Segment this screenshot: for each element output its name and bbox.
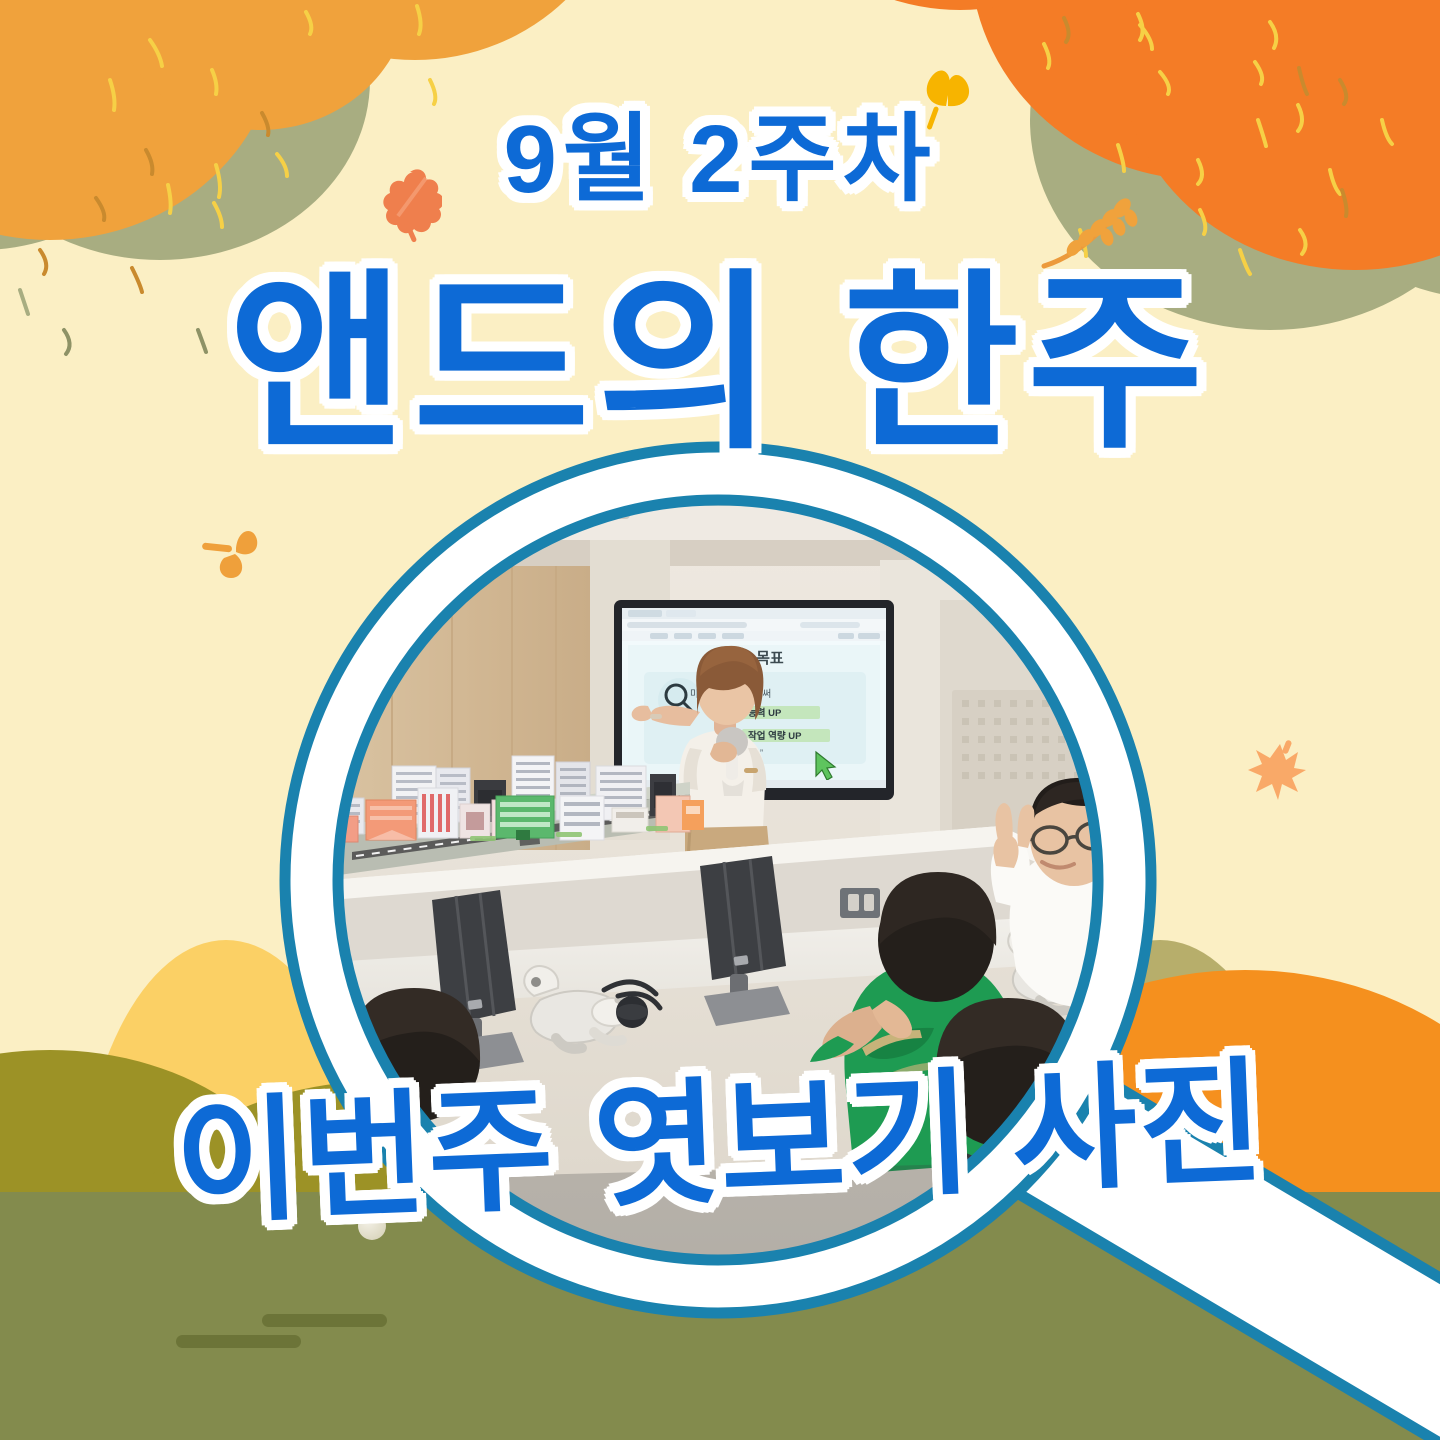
poster-canvas: 9월 2주차: [0, 0, 1440, 1440]
main-title: 앤드의 한주: [0, 268, 1440, 460]
screen-line-3: 작업 역량 UP: [748, 730, 802, 742]
screen-line-2: 능력 UP: [748, 707, 782, 719]
